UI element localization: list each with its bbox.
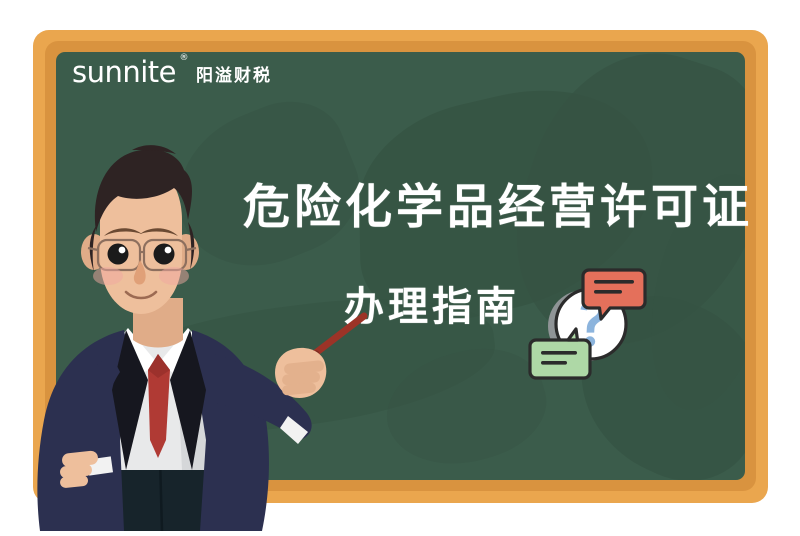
eye-left [108, 244, 129, 265]
brand-logo: sunnite ® 阳溢财税 [72, 58, 272, 87]
faq-graphic [528, 264, 650, 386]
teacher-illustration [0, 140, 420, 531]
registered-trademark-icon: ® [180, 54, 189, 63]
company-name-label: 阳溢财税 [196, 67, 272, 87]
cheek-left [93, 267, 123, 285]
suit [37, 328, 311, 531]
cheek-right [159, 267, 189, 285]
logo-wordmark-text: sunnite [72, 55, 176, 89]
hand-right [275, 348, 326, 398]
teacher-figure [0, 140, 420, 531]
logo-wordmark: sunnite ® [72, 58, 176, 87]
faq-illustration [528, 264, 650, 386]
poster-canvas: sunnite ® 阳溢财税 危险化学品经营许可证 办理指南 [0, 0, 800, 531]
eye-right [154, 244, 175, 265]
